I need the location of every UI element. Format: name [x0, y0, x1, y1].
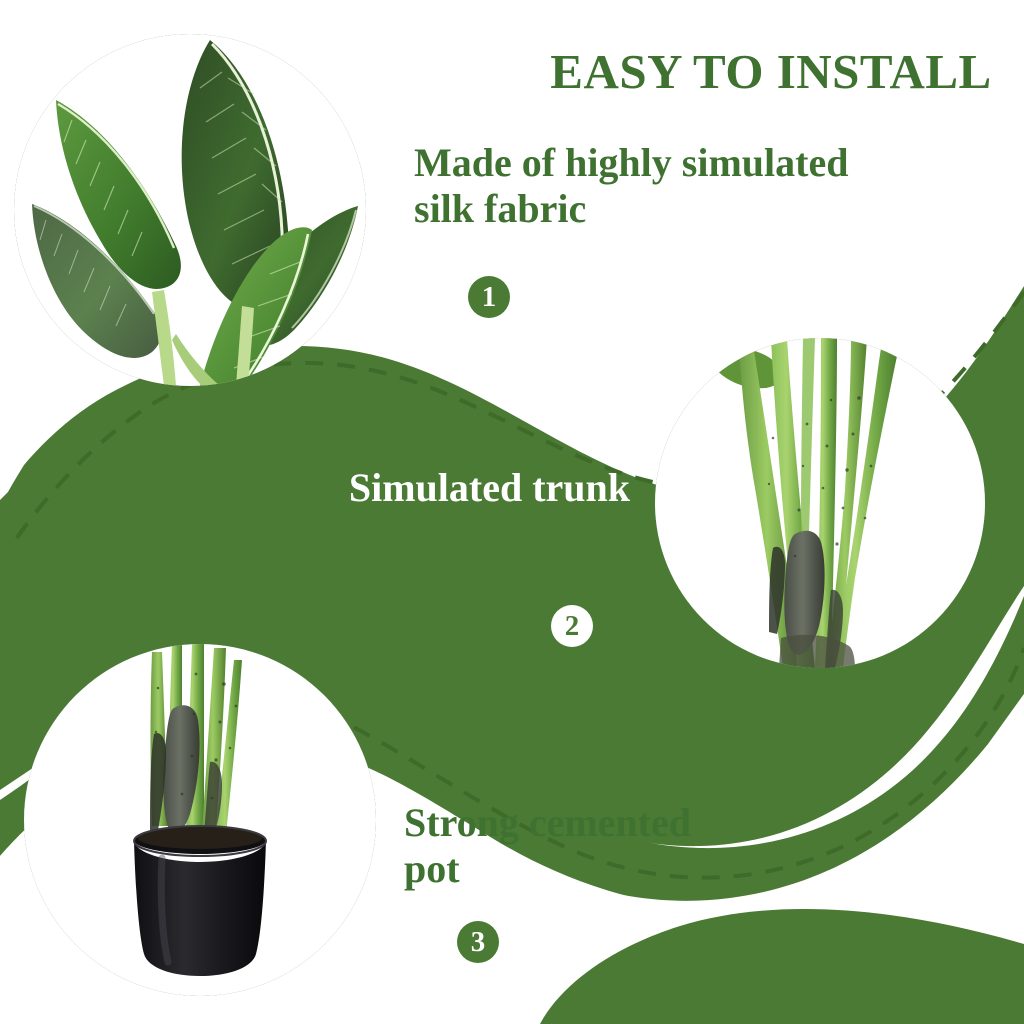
page-title: EASY TO INSTALL	[526, 44, 1016, 100]
feature-3-label: Strong cemented pot	[404, 800, 744, 891]
pot-photo-art	[24, 644, 376, 996]
leaf-photo-art	[14, 34, 366, 386]
step-badge-3: 3	[457, 921, 499, 963]
trunk-photo-art	[655, 338, 985, 668]
step-badge-2: 2	[551, 605, 593, 647]
pot-closeup-photo	[24, 644, 376, 996]
feature-2-label: Simulated trunk	[340, 465, 630, 511]
step-badge-1: 1	[468, 276, 510, 318]
infographic-canvas: EASY TO INSTALL Made of highly simulated…	[0, 0, 1024, 1024]
feature-1-label: Made of highly simulated silk fabric	[414, 140, 884, 231]
leaf-closeup-photo	[14, 34, 366, 386]
trunk-closeup-photo	[655, 338, 985, 668]
